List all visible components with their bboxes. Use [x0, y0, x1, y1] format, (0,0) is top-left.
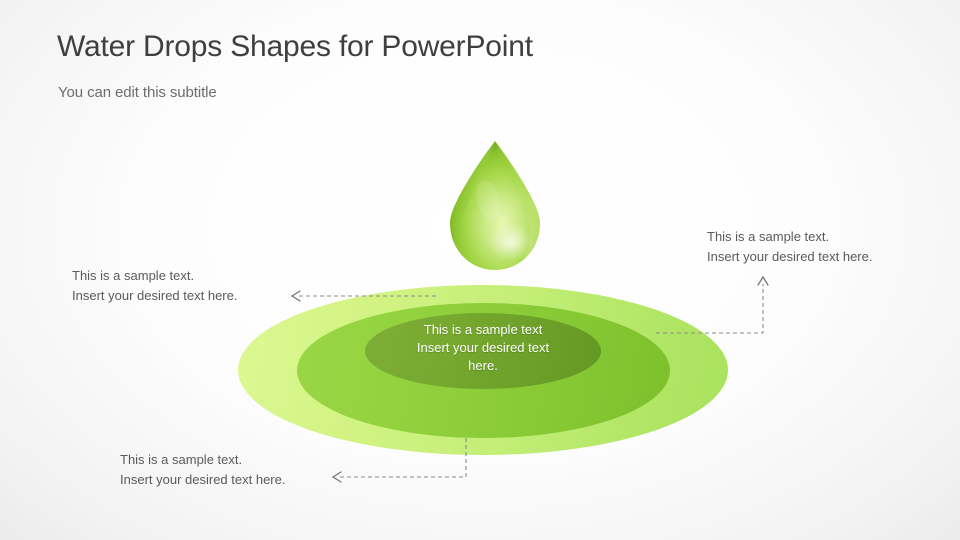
connector-right-arrowhead [758, 277, 768, 285]
connector-bottom-line [340, 438, 466, 477]
connector-right-line [656, 284, 763, 333]
callout-left-line-2: Insert your desired text here. [72, 286, 237, 306]
callout-bottom[interactable]: This is a sample text. Insert your desir… [120, 450, 285, 490]
slide-canvas: Water Drops Shapes for PowerPoint You ca… [0, 0, 960, 540]
callout-left[interactable]: This is a sample text. Insert your desir… [72, 266, 237, 306]
callout-bottom-line-1: This is a sample text. [120, 450, 285, 470]
callout-right[interactable]: This is a sample text. Insert your desir… [707, 227, 872, 267]
callout-bottom-line-2: Insert your desired text here. [120, 470, 285, 490]
connector-bottom-arrowhead [333, 472, 341, 482]
callout-right-line-2: Insert your desired text here. [707, 247, 872, 267]
callout-right-line-1: This is a sample text. [707, 227, 872, 247]
callout-left-line-1: This is a sample text. [72, 266, 237, 286]
connector-left-arrowhead [292, 291, 300, 301]
